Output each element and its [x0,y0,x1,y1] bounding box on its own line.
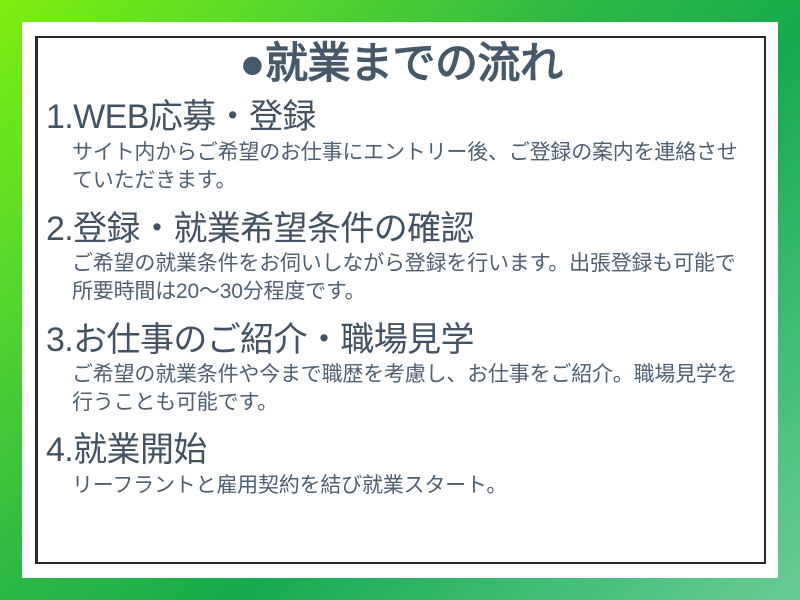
step-body-2: ご希望の就業条件をお伺いしながら登録を行います。出張登録も可能で所要時間は20〜… [46,250,756,306]
step-item-1: 1.WEB応募・登録 サイト内からご希望のお仕事にエントリー後、ご登録の案内を連… [46,98,756,195]
step-body-4: リーフラントと雇用契約を結び就業スタート。 [46,472,756,500]
page-title: ●就業までの流れ [46,40,756,92]
step-body-3: ご希望の就業条件や今まで職歴を考慮し、お仕事をご紹介。職場見学を行うことも可能で… [46,361,756,417]
white-paper-panel: ●就業までの流れ 1.WEB応募・登録 サイト内からご希望のお仕事にエントリー後… [22,22,778,578]
step-body-1: サイト内からご希望のお仕事にエントリー後、ご登録の案内を連絡させていただきます。 [46,139,756,195]
step-item-2: 2.登録・就業希望条件の確認 ご希望の就業条件をお伺いしながら登録を行います。出… [46,210,756,307]
step-heading-1: 1.WEB応募・登録 [46,98,756,137]
step-heading-3: 3.お仕事のご紹介・職場見学 [46,321,756,360]
step-heading-2: 2.登録・就業希望条件の確認 [46,210,756,249]
poster-content: ●就業までの流れ 1.WEB応募・登録 サイト内からご希望のお仕事にエントリー後… [46,40,756,562]
step-heading-4: 4.就業開始 [46,431,756,470]
step-item-4: 4.就業開始 リーフラントと雇用契約を結び就業スタート。 [46,431,756,500]
step-item-3: 3.お仕事のご紹介・職場見学 ご希望の就業条件や今まで職歴を考慮し、お仕事をご紹… [46,321,756,418]
poster-root: ●就業までの流れ 1.WEB応募・登録 サイト内からご希望のお仕事にエントリー後… [0,0,800,600]
